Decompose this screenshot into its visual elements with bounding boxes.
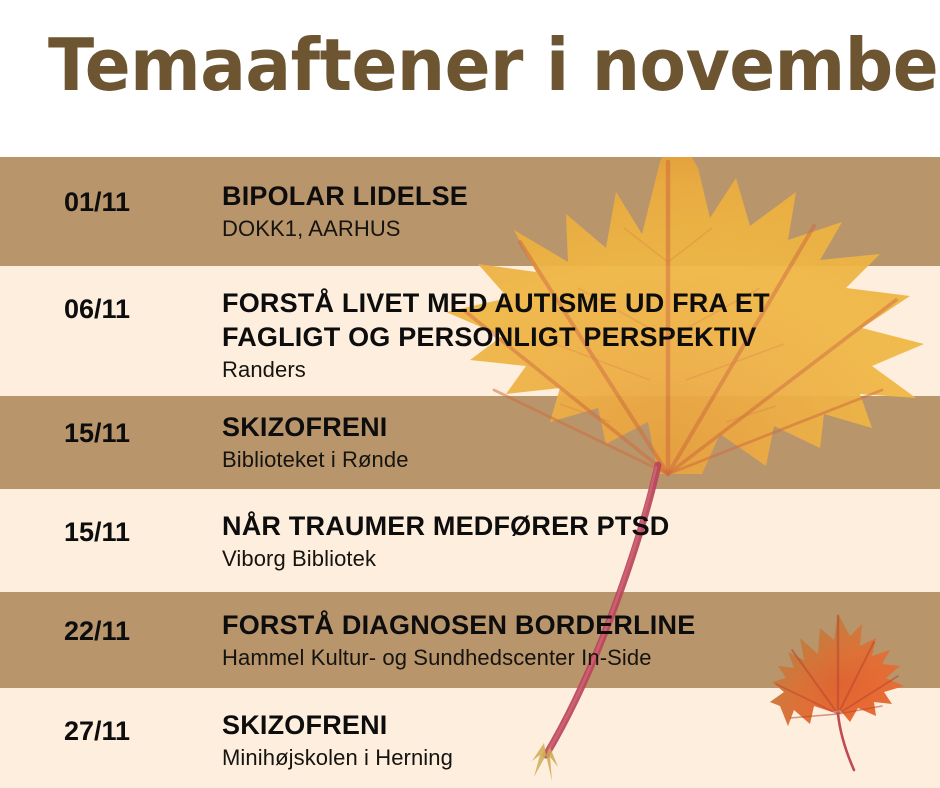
header-area: Temaaftener i november xyxy=(0,0,940,157)
event-band-backgrounds xyxy=(0,157,940,788)
event-row-band xyxy=(0,396,940,489)
event-row-band xyxy=(0,266,940,396)
event-row-band xyxy=(0,592,940,688)
event-row-band xyxy=(0,688,940,788)
page-title: Temaaftener i november xyxy=(48,26,940,104)
event-row-band xyxy=(0,157,940,266)
poster-canvas: Temaaftener i november 01/11BIPOLAR LIDE… xyxy=(0,0,940,788)
event-row-band xyxy=(0,489,940,592)
